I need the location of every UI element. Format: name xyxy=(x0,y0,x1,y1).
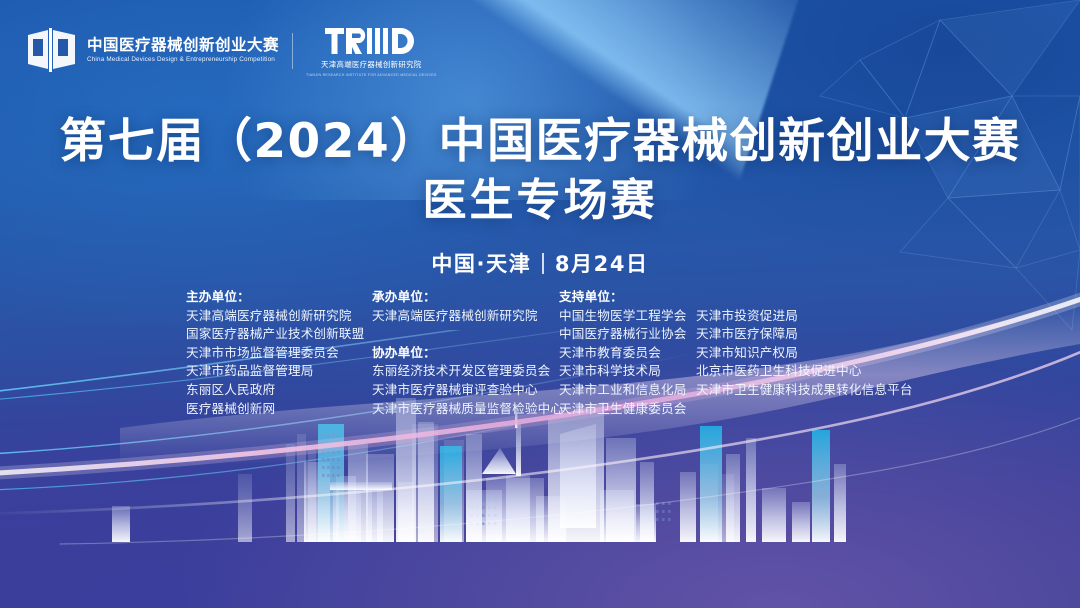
org-group-spacer xyxy=(372,325,559,344)
org-item: 天津市投资促进局 xyxy=(696,307,911,326)
competition-logo[interactable]: 中国医疗器械创新创业大赛 China Medical Devices Desig… xyxy=(26,28,279,74)
page-subtitle: 医生专场赛 xyxy=(0,172,1080,231)
trimd-wordmark-icon xyxy=(325,26,417,56)
org-item: 天津高端医疗器械创新研究院 xyxy=(186,307,372,326)
org-item: 天津市药品监督管理局 xyxy=(186,362,372,381)
institute-logo[interactable]: 天津高端医疗器械创新研究院 TIANJIN RESEARCH INSTITUTE… xyxy=(306,26,437,77)
event-date: 8月24日 xyxy=(555,248,649,278)
org-column-support-right: 天津市投资促进局 天津市医疗保障局 天津市知识产权局 北京市医药卫生科技促进中心… xyxy=(696,288,911,400)
competition-name-en: China Medical Devices Design & Entrepren… xyxy=(87,57,283,63)
open-door-book-mark-icon xyxy=(26,28,78,74)
org-item: 中国医疗器械行业协会 xyxy=(559,325,696,344)
competition-logo-text: 中国医疗器械创新创业大赛 China Medical Devices Desig… xyxy=(87,38,279,63)
page-title: 第七届（2024）中国医疗器械创新创业大赛 xyxy=(0,112,1080,172)
organisations-block: 主办单位： 天津高端医疗器械创新研究院 国家医疗器械产业技术创新联盟 天津市市场… xyxy=(186,288,911,418)
org-column-support-left: 支持单位： 中国生物医学工程学会 中国医疗器械行业协会 天津市教育委员会 天津市… xyxy=(559,288,696,418)
event-location: 中国·天津 xyxy=(431,248,531,278)
org-item: 东丽区人民政府 xyxy=(186,381,372,400)
header-logos: 中国医疗器械创新创业大赛 China Medical Devices Desig… xyxy=(26,24,437,77)
logo-divider xyxy=(292,33,293,69)
org-item: 天津市医疗器械审评查验中心 xyxy=(372,381,559,400)
org-item: 中国生物医学工程学会 xyxy=(559,307,696,326)
org-column-host: 主办单位： 天津高端医疗器械创新研究院 国家医疗器械产业技术创新联盟 天津市市场… xyxy=(186,288,372,418)
org-item: 天津市医疗保障局 xyxy=(696,325,911,344)
institute-name-en: TIANJIN RESEARCH INSTITUTE FOR ADVANCED … xyxy=(306,73,437,77)
org-item: 天津市工业和信息化局 xyxy=(559,381,696,400)
title-block: 第七届（2024）中国医疗器械创新创业大赛 医生专场赛 中国·天津 8月24日 xyxy=(0,112,1080,278)
org-item: 天津市科学技术局 xyxy=(559,362,696,381)
org-item: 天津市卫生健康委员会 xyxy=(559,400,696,419)
org-item: 国家医疗器械产业技术创新联盟 xyxy=(186,325,372,344)
org-heading: 主办单位： xyxy=(186,288,372,307)
event-meta: 中国·天津 8月24日 xyxy=(0,248,1080,278)
org-heading: 协办单位： xyxy=(372,344,559,363)
org-item: 天津市卫生健康科技成果转化信息平台 xyxy=(696,381,911,400)
org-group-spacer xyxy=(696,288,911,307)
org-item: 东丽经济技术开发区管理委员会 xyxy=(372,362,559,381)
org-item: 天津市教育委员会 xyxy=(559,344,696,363)
org-item: 北京市医药卫生科技促进中心 xyxy=(696,362,911,381)
org-item: 天津市医疗器械质量监督检验中心 xyxy=(372,400,559,419)
org-item: 医疗器械创新网 xyxy=(186,400,372,419)
org-column-organiser: 承办单位： 天津高端医疗器械创新研究院 协办单位： 东丽经济技术开发区管理委员会… xyxy=(372,288,559,418)
org-item: 天津市知识产权局 xyxy=(696,344,911,363)
meta-separator xyxy=(542,253,544,274)
org-item: 天津高端医疗器械创新研究院 xyxy=(372,307,559,326)
poster-canvas: 中国医疗器械创新创业大赛 China Medical Devices Desig… xyxy=(0,0,1080,608)
org-heading: 承办单位： xyxy=(372,288,559,307)
institute-name-cn: 天津高端医疗器械创新研究院 xyxy=(321,59,422,70)
org-heading: 支持单位： xyxy=(559,288,696,307)
org-item: 天津市市场监督管理委员会 xyxy=(186,344,372,363)
competition-name-cn: 中国医疗器械创新创业大赛 xyxy=(87,38,279,54)
